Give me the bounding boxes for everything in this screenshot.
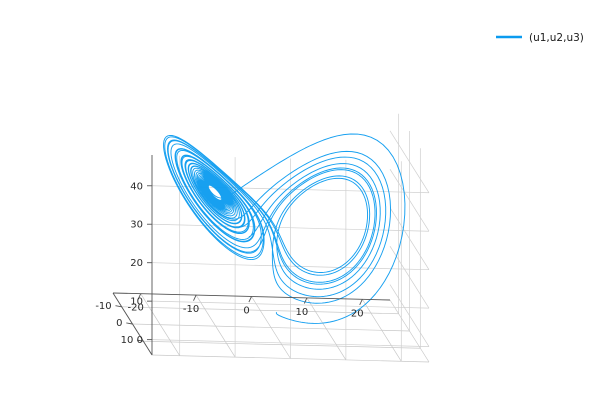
figure-background [0, 0, 600, 400]
z-tick-label: 40 [130, 181, 143, 192]
x-tick-label: 0 [243, 306, 249, 317]
y-tick-label: 0 [116, 318, 122, 329]
z-tick-label: 0 [137, 335, 143, 346]
legend-entry-label: (u1,u2,u3) [529, 32, 584, 44]
y-tick-label: -10 [95, 301, 111, 312]
x-tick-label: 20 [351, 308, 364, 319]
plot-figure: -20-1001020 -10010 010203040 (u1,u2,u3) [0, 0, 600, 400]
z-tick-label: 10 [130, 297, 143, 308]
plot-canvas: -20-1001020 -10010 010203040 (u1,u2,u3) [0, 0, 600, 400]
z-tick-label: 30 [130, 220, 143, 231]
x-tick-label: -10 [183, 304, 199, 315]
z-tick-label: 20 [130, 258, 143, 269]
y-tick-label: 10 [121, 335, 134, 346]
x-tick-label: 10 [296, 307, 309, 318]
